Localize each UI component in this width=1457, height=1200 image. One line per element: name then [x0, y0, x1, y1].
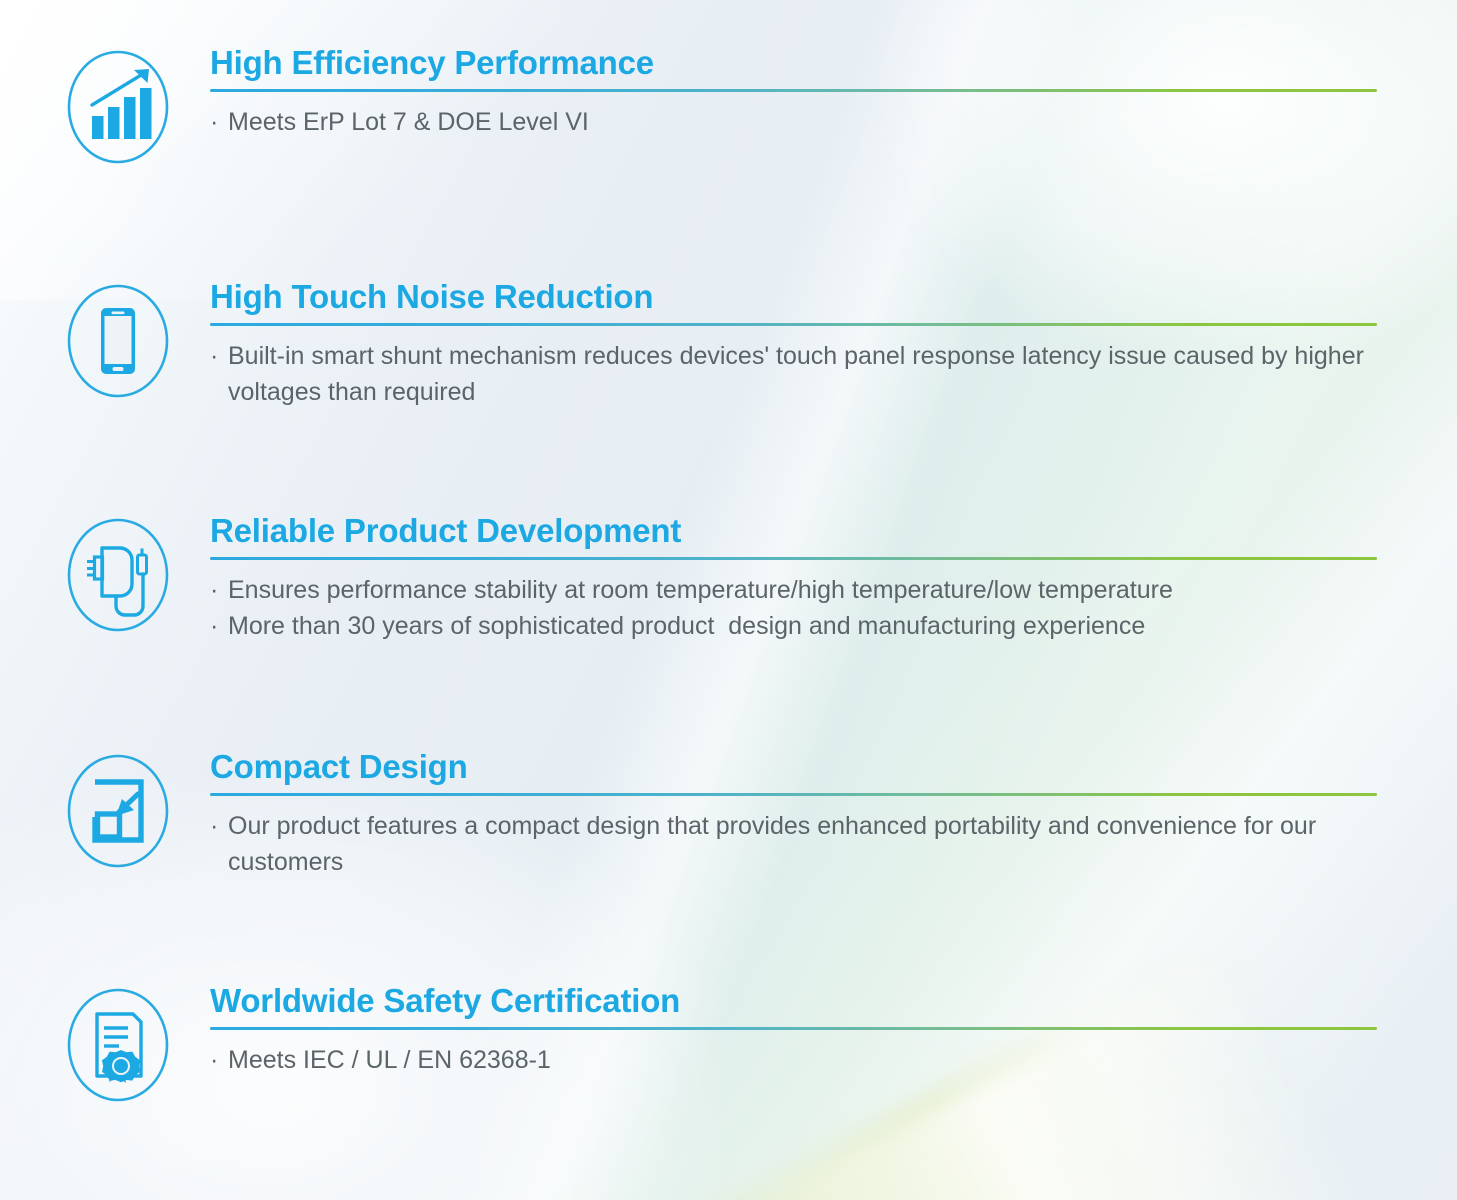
smartphone-icon: [66, 282, 170, 400]
feature-item-high-touch-noise-reduction: High Touch Noise Reduction ·Built-in sma…: [0, 278, 1457, 411]
feature-bullet: ·More than 30 years of sophisticated pro…: [210, 608, 1379, 645]
bullet-mark: ·: [210, 1042, 218, 1079]
feature-bullets: ·Ensures performance stability at room t…: [210, 572, 1379, 645]
bullet-text: Ensures performance stability at room te…: [228, 576, 1173, 604]
feature-divider: [210, 557, 1377, 560]
bullet-mark: ·: [210, 608, 218, 645]
compact-resize-icon: [66, 752, 170, 870]
feature-bullet: ·Meets ErP Lot 7 & DOE Level VI: [210, 104, 1379, 141]
feature-body: Compact Design ·Our product features a c…: [210, 748, 1457, 881]
feature-item-high-efficiency-performance: High Efficiency Performance ·Meets ErP L…: [0, 44, 1457, 166]
feature-divider: [210, 1027, 1377, 1030]
growth-bar-chart-icon: [66, 48, 170, 166]
feature-bullet: ·Meets IEC / UL / EN 62368-1: [210, 1042, 1379, 1079]
feature-bullets: ·Meets IEC / UL / EN 62368-1: [210, 1042, 1379, 1079]
feature-bullet: ·Built-in smart shunt mechanism reduces …: [210, 338, 1379, 411]
bullet-mark: ·: [210, 338, 218, 375]
feature-icon-wrap: [58, 982, 178, 1104]
feature-title: Reliable Product Development: [210, 512, 1379, 551]
bullet-text: More than 30 years of sophisticated prod…: [228, 612, 1145, 640]
feature-list: High Efficiency Performance ·Meets ErP L…: [0, 0, 1457, 1200]
feature-title: Worldwide Safety Certification: [210, 982, 1379, 1021]
bullet-text: Our product features a compact design th…: [228, 812, 1323, 877]
feature-divider: [210, 323, 1377, 326]
bullet-mark: ·: [210, 572, 218, 609]
feature-body: High Touch Noise Reduction ·Built-in sma…: [210, 278, 1457, 411]
feature-item-compact-design: Compact Design ·Our product features a c…: [0, 748, 1457, 881]
power-adapter-icon: [66, 516, 170, 634]
feature-bullets: ·Our product features a compact design t…: [210, 808, 1379, 881]
bullet-mark: ·: [210, 808, 218, 845]
certificate-seal-icon: [66, 986, 170, 1104]
feature-title: Compact Design: [210, 748, 1379, 787]
feature-icon-wrap: [58, 278, 178, 400]
feature-bullet: ·Ensures performance stability at room t…: [210, 572, 1379, 609]
feature-title: High Efficiency Performance: [210, 44, 1379, 83]
feature-icon-wrap: [58, 748, 178, 870]
feature-body: Worldwide Safety Certification ·Meets IE…: [210, 982, 1457, 1078]
feature-bullets: ·Built-in smart shunt mechanism reduces …: [210, 338, 1379, 411]
feature-bullet: ·Our product features a compact design t…: [210, 808, 1379, 881]
feature-title: High Touch Noise Reduction: [210, 278, 1379, 317]
feature-item-reliable-product-development: Reliable Product Development ·Ensures pe…: [0, 512, 1457, 645]
feature-icon-wrap: [58, 512, 178, 634]
feature-body: Reliable Product Development ·Ensures pe…: [210, 512, 1457, 645]
feature-item-worldwide-safety-certification: Worldwide Safety Certification ·Meets IE…: [0, 982, 1457, 1104]
bullet-mark: ·: [210, 104, 218, 141]
feature-divider: [210, 89, 1377, 92]
bullet-text: Built-in smart shunt mechanism reduces d…: [228, 342, 1371, 407]
feature-divider: [210, 793, 1377, 796]
bullet-text: Meets IEC / UL / EN 62368-1: [228, 1046, 551, 1074]
feature-body: High Efficiency Performance ·Meets ErP L…: [210, 44, 1457, 140]
feature-icon-wrap: [58, 44, 178, 166]
bullet-text: Meets ErP Lot 7 & DOE Level VI: [228, 108, 589, 136]
feature-bullets: ·Meets ErP Lot 7 & DOE Level VI: [210, 104, 1379, 141]
